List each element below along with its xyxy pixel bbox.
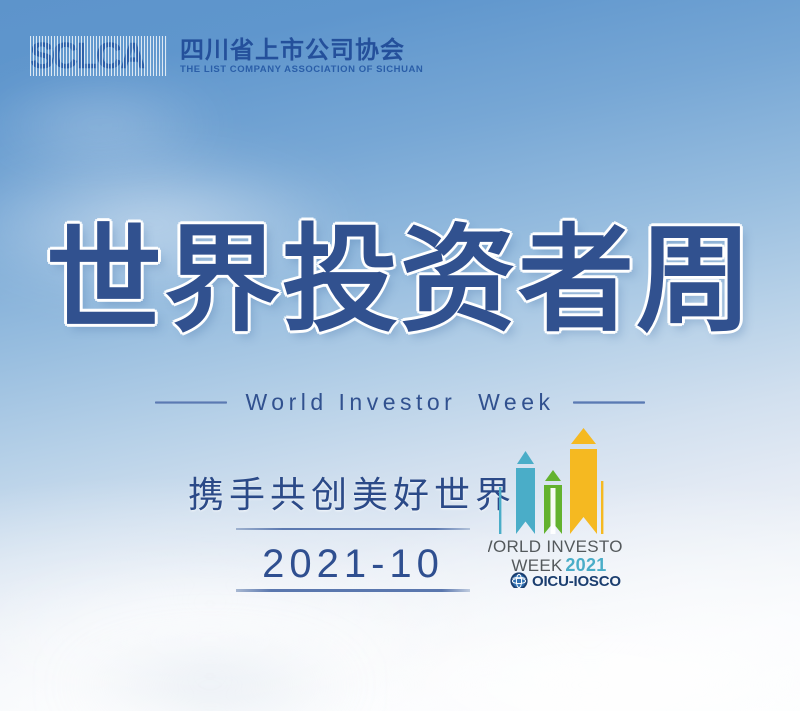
association-name-cn: 四川省上市公司协会 (180, 37, 423, 63)
sclca-wordmark-logo: SCLCA (30, 36, 168, 76)
subtitle-row: World Investor Week (0, 389, 800, 416)
association-header: SCLCA 四川省上市公司协会 THE LIST COMPANY ASSOCIA… (30, 36, 423, 76)
page-title: 世界投资者周 (0, 222, 800, 340)
pencil-blue (516, 451, 535, 534)
event-date: 2021-10 (236, 541, 470, 587)
cloud-haze-4 (60, 640, 360, 711)
pencil-yellow (570, 428, 597, 534)
subtitle-english: World Investor Week (245, 389, 554, 416)
subtitle-rule-left (155, 401, 227, 404)
association-names: 四川省上市公司协会 THE LIST COMPANY ASSOCIATION O… (180, 37, 423, 76)
wiw-logo-line1: WORLD INVESTOR (488, 537, 624, 556)
wiw-logo-year: 2021 (565, 555, 606, 575)
date-divider-top (236, 528, 470, 530)
date-divider-bottom (236, 589, 470, 592)
association-name-en: THE LIST COMPANY ASSOCIATION OF SICHUAN (180, 64, 423, 76)
pencil-green (544, 470, 562, 534)
sclca-wordmark-text: SCLCA (30, 36, 168, 76)
cloud-haze-5 (0, 80, 230, 170)
subtitle-rule-right (573, 401, 645, 404)
iosco-name: OICU-IOSCO (532, 573, 621, 588)
cloud-haze-3 (330, 620, 800, 711)
world-investor-week-logo: WORLD INVESTOR WEEK 2021 OICU-IOSCO INTE… (488, 426, 624, 588)
slogan-chinese: 携手共创美好世界 (188, 466, 516, 518)
poster-canvas: SCLCA 四川省上市公司协会 THE LIST COMPANY ASSOCIA… (0, 0, 800, 711)
